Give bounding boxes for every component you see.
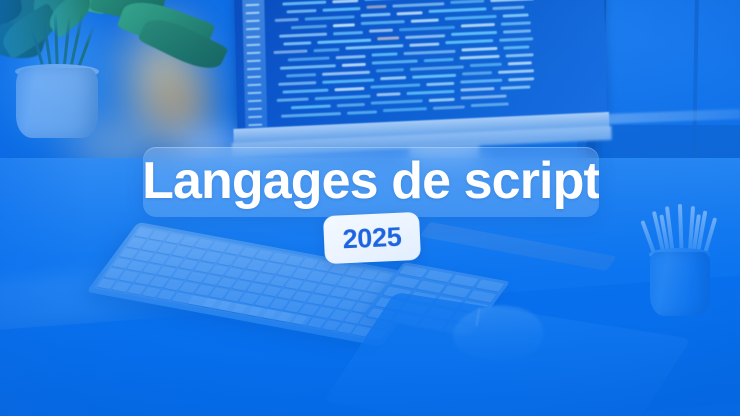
year-badge: 2025	[323, 212, 421, 264]
banner-title: Langages de script	[143, 155, 599, 210]
title-banner-panel: Langages de script	[143, 147, 599, 217]
year-badge-label: 2025	[342, 223, 402, 253]
hero-banner-image: Langages de script 2025	[0, 0, 740, 416]
